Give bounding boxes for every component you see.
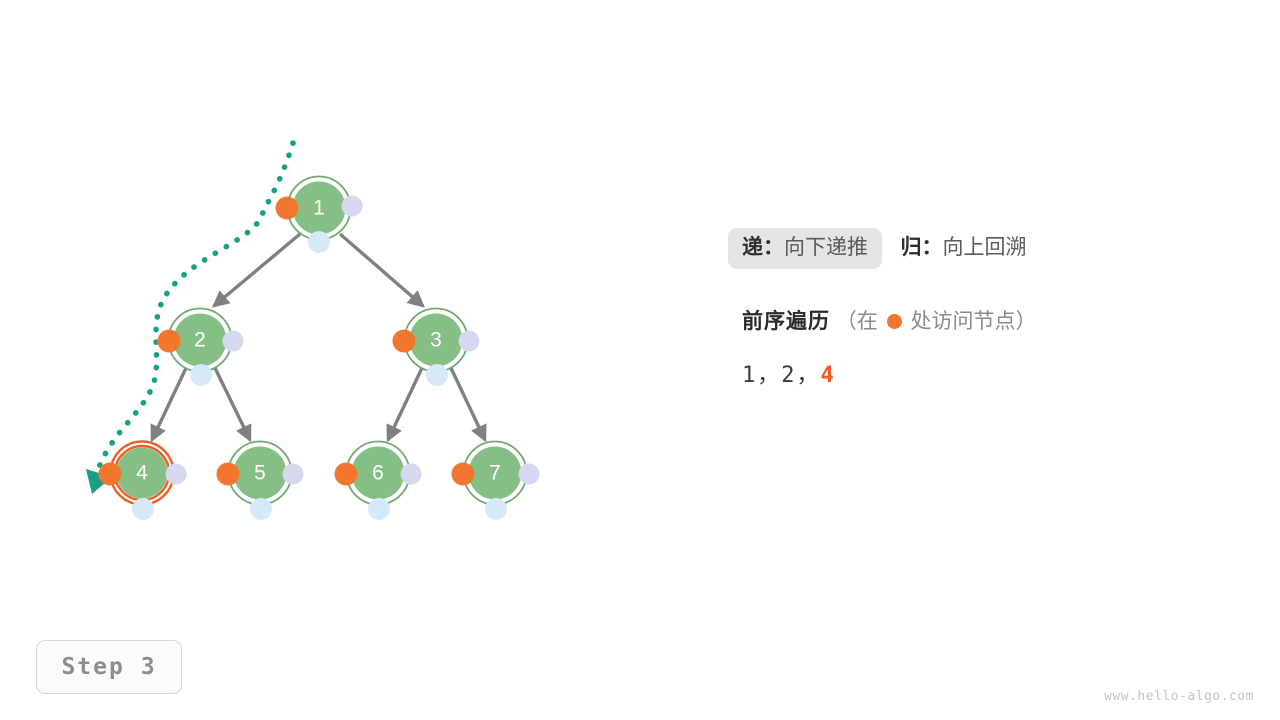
node-2-orange-dot	[158, 330, 181, 353]
tree-node-2[interactable]: 2	[158, 309, 244, 387]
legend-recurse-key: 递：	[742, 236, 784, 259]
binary-tree-diagram: 1 2 3	[0, 0, 640, 620]
node-2-blue-dot	[190, 364, 212, 386]
node-6-lavender-dot	[401, 464, 422, 485]
tree-node-3[interactable]: 3	[393, 309, 480, 387]
node-5-lavender-dot	[283, 464, 304, 485]
traversal-note-after: 处访问节点）	[911, 310, 1037, 333]
node-1-orange-dot	[276, 197, 299, 220]
edge-1-3	[340, 234, 423, 306]
node-7-blue-dot	[485, 498, 507, 520]
node-2-label: 2	[194, 329, 206, 352]
legend-recurse-value: 向下递推	[784, 236, 868, 259]
node-7-lavender-dot	[519, 464, 540, 485]
node-4-lavender-dot	[166, 464, 187, 485]
legend-item-return: 归：向上回溯	[886, 228, 1040, 269]
node-1-lavender-dot	[342, 196, 363, 217]
traversal-note-before: （在	[836, 310, 878, 333]
node-6-orange-dot	[335, 463, 358, 486]
node-2-lavender-dot	[223, 331, 244, 352]
explanation-panel: 递：向下递推 归：向上回溯 前序遍历 （在 处访问节点） 1，2，4	[728, 228, 1248, 389]
sequence-visited: 1，2，	[742, 363, 821, 388]
footer-url: www.hello-algo.com	[1104, 689, 1254, 704]
legend-item-recurse: 递：向下递推	[728, 228, 882, 269]
tree-node-7[interactable]: 7	[452, 442, 540, 521]
node-5-label: 5	[254, 462, 266, 485]
node-7-orange-dot	[452, 463, 475, 486]
node-5-blue-dot	[250, 498, 272, 520]
legend-list: 递：向下递推 归：向上回溯	[728, 228, 1248, 283]
legend-return-key: 归：	[900, 236, 942, 259]
tree-node-5[interactable]: 5	[217, 442, 304, 521]
tree-node-6[interactable]: 6	[335, 442, 422, 521]
traversal-title-text: 前序遍历	[742, 310, 830, 333]
recursion-path-line	[98, 143, 293, 470]
node-4-blue-dot	[132, 498, 154, 520]
node-7-label: 7	[489, 462, 501, 485]
tree-node-4[interactable]: 4	[99, 442, 187, 521]
node-5-orange-dot	[217, 463, 240, 486]
node-3-orange-dot	[393, 330, 416, 353]
node-3-lavender-dot	[459, 331, 480, 352]
legend-return-value: 向上回溯	[942, 236, 1026, 259]
traversal-title: 前序遍历 （在 处访问节点）	[742, 305, 1248, 335]
step-badge-label: Step 3	[61, 654, 156, 680]
node-1-blue-dot	[308, 231, 330, 253]
edge-3-6	[388, 368, 422, 440]
node-4-label: 4	[136, 462, 148, 485]
node-6-blue-dot	[368, 498, 390, 520]
edge-2-5	[215, 368, 250, 440]
visit-marker-icon	[887, 314, 902, 329]
sequence-current: 4	[821, 363, 836, 388]
node-4-orange-dot	[99, 463, 122, 486]
node-1-label: 1	[313, 197, 325, 220]
edge-2-4	[152, 368, 186, 440]
node-3-label: 3	[430, 329, 442, 352]
node-layer: 1 2 3	[99, 177, 540, 521]
edge-3-7	[451, 368, 485, 440]
traversal-sequence: 1，2，4	[742, 357, 1248, 389]
node-6-label: 6	[372, 462, 384, 485]
node-3-blue-dot	[426, 364, 448, 386]
step-badge: Step 3	[36, 640, 182, 694]
